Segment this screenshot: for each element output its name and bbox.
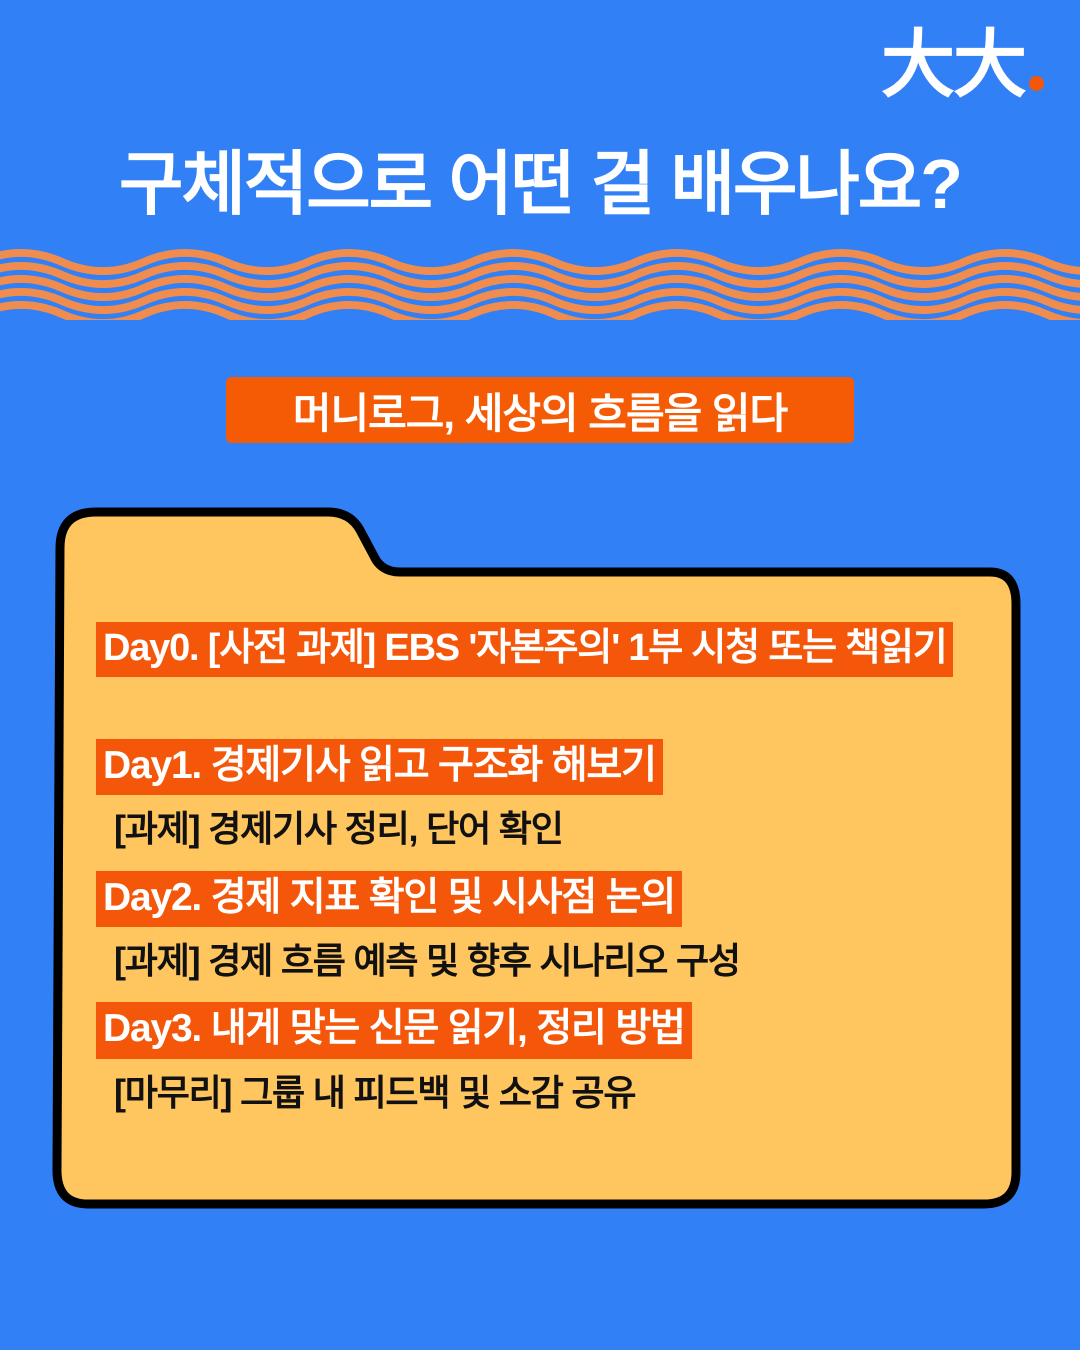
logo-dot-icon bbox=[1029, 76, 1044, 91]
curriculum-folder: Day0. [사전 과제] EBS '자본주의' 1부 시청 또는 책읽기 Da… bbox=[38, 500, 1038, 1220]
curriculum-row-day2-sub: [과제] 경제 흐름 예측 및 향후 시나리오 구성 bbox=[96, 939, 1016, 982]
curriculum-row-day3: Day3. 내게 맞는 신문 읽기, 정리 방법 [마무리] 그룹 내 피드백 … bbox=[96, 1002, 1016, 1114]
section-badge: 머니로그, 세상의 흐름을 읽다 bbox=[226, 377, 854, 443]
curriculum-row-day0: Day0. [사전 과제] EBS '자본주의' 1부 시청 또는 책읽기 bbox=[96, 622, 1016, 677]
section-badge-label: 머니로그, 세상의 흐름을 읽다 bbox=[293, 380, 787, 441]
wave-divider bbox=[0, 248, 1080, 320]
curriculum-row-day1-sub: [과제] 경제기사 정리, 단어 확인 bbox=[96, 807, 1016, 850]
curriculum-row-day2-head: Day2. 경제 지표 확인 및 시사점 논의 bbox=[96, 871, 682, 927]
page-title: 구체적으로 어떤 걸 배우나요? bbox=[0, 128, 1080, 229]
brand-logo: 大大 bbox=[881, 34, 1044, 97]
curriculum-row-day3-sub: [마무리] 그룹 내 피드백 및 소감 공유 bbox=[96, 1071, 1016, 1114]
wave-lines-icon bbox=[0, 248, 1080, 320]
curriculum-row-day3-head: Day3. 내게 맞는 신문 읽기, 정리 방법 bbox=[96, 1002, 692, 1058]
curriculum-row-day2: Day2. 경제 지표 확인 및 시사점 논의 [과제] 경제 흐름 예측 및 … bbox=[96, 871, 1016, 983]
logo-wordmark: 大大 bbox=[881, 34, 1025, 97]
curriculum-row-day1: Day1. 경제기사 읽고 구조화 해보기 [과제] 경제기사 정리, 단어 확… bbox=[96, 739, 1016, 851]
curriculum-list: Day0. [사전 과제] EBS '자본주의' 1부 시청 또는 책읽기 Da… bbox=[96, 622, 1016, 1120]
curriculum-row-day1-head: Day1. 경제기사 읽고 구조화 해보기 bbox=[96, 739, 663, 795]
curriculum-row-day0-head: Day0. [사전 과제] EBS '자본주의' 1부 시청 또는 책읽기 bbox=[96, 622, 953, 677]
